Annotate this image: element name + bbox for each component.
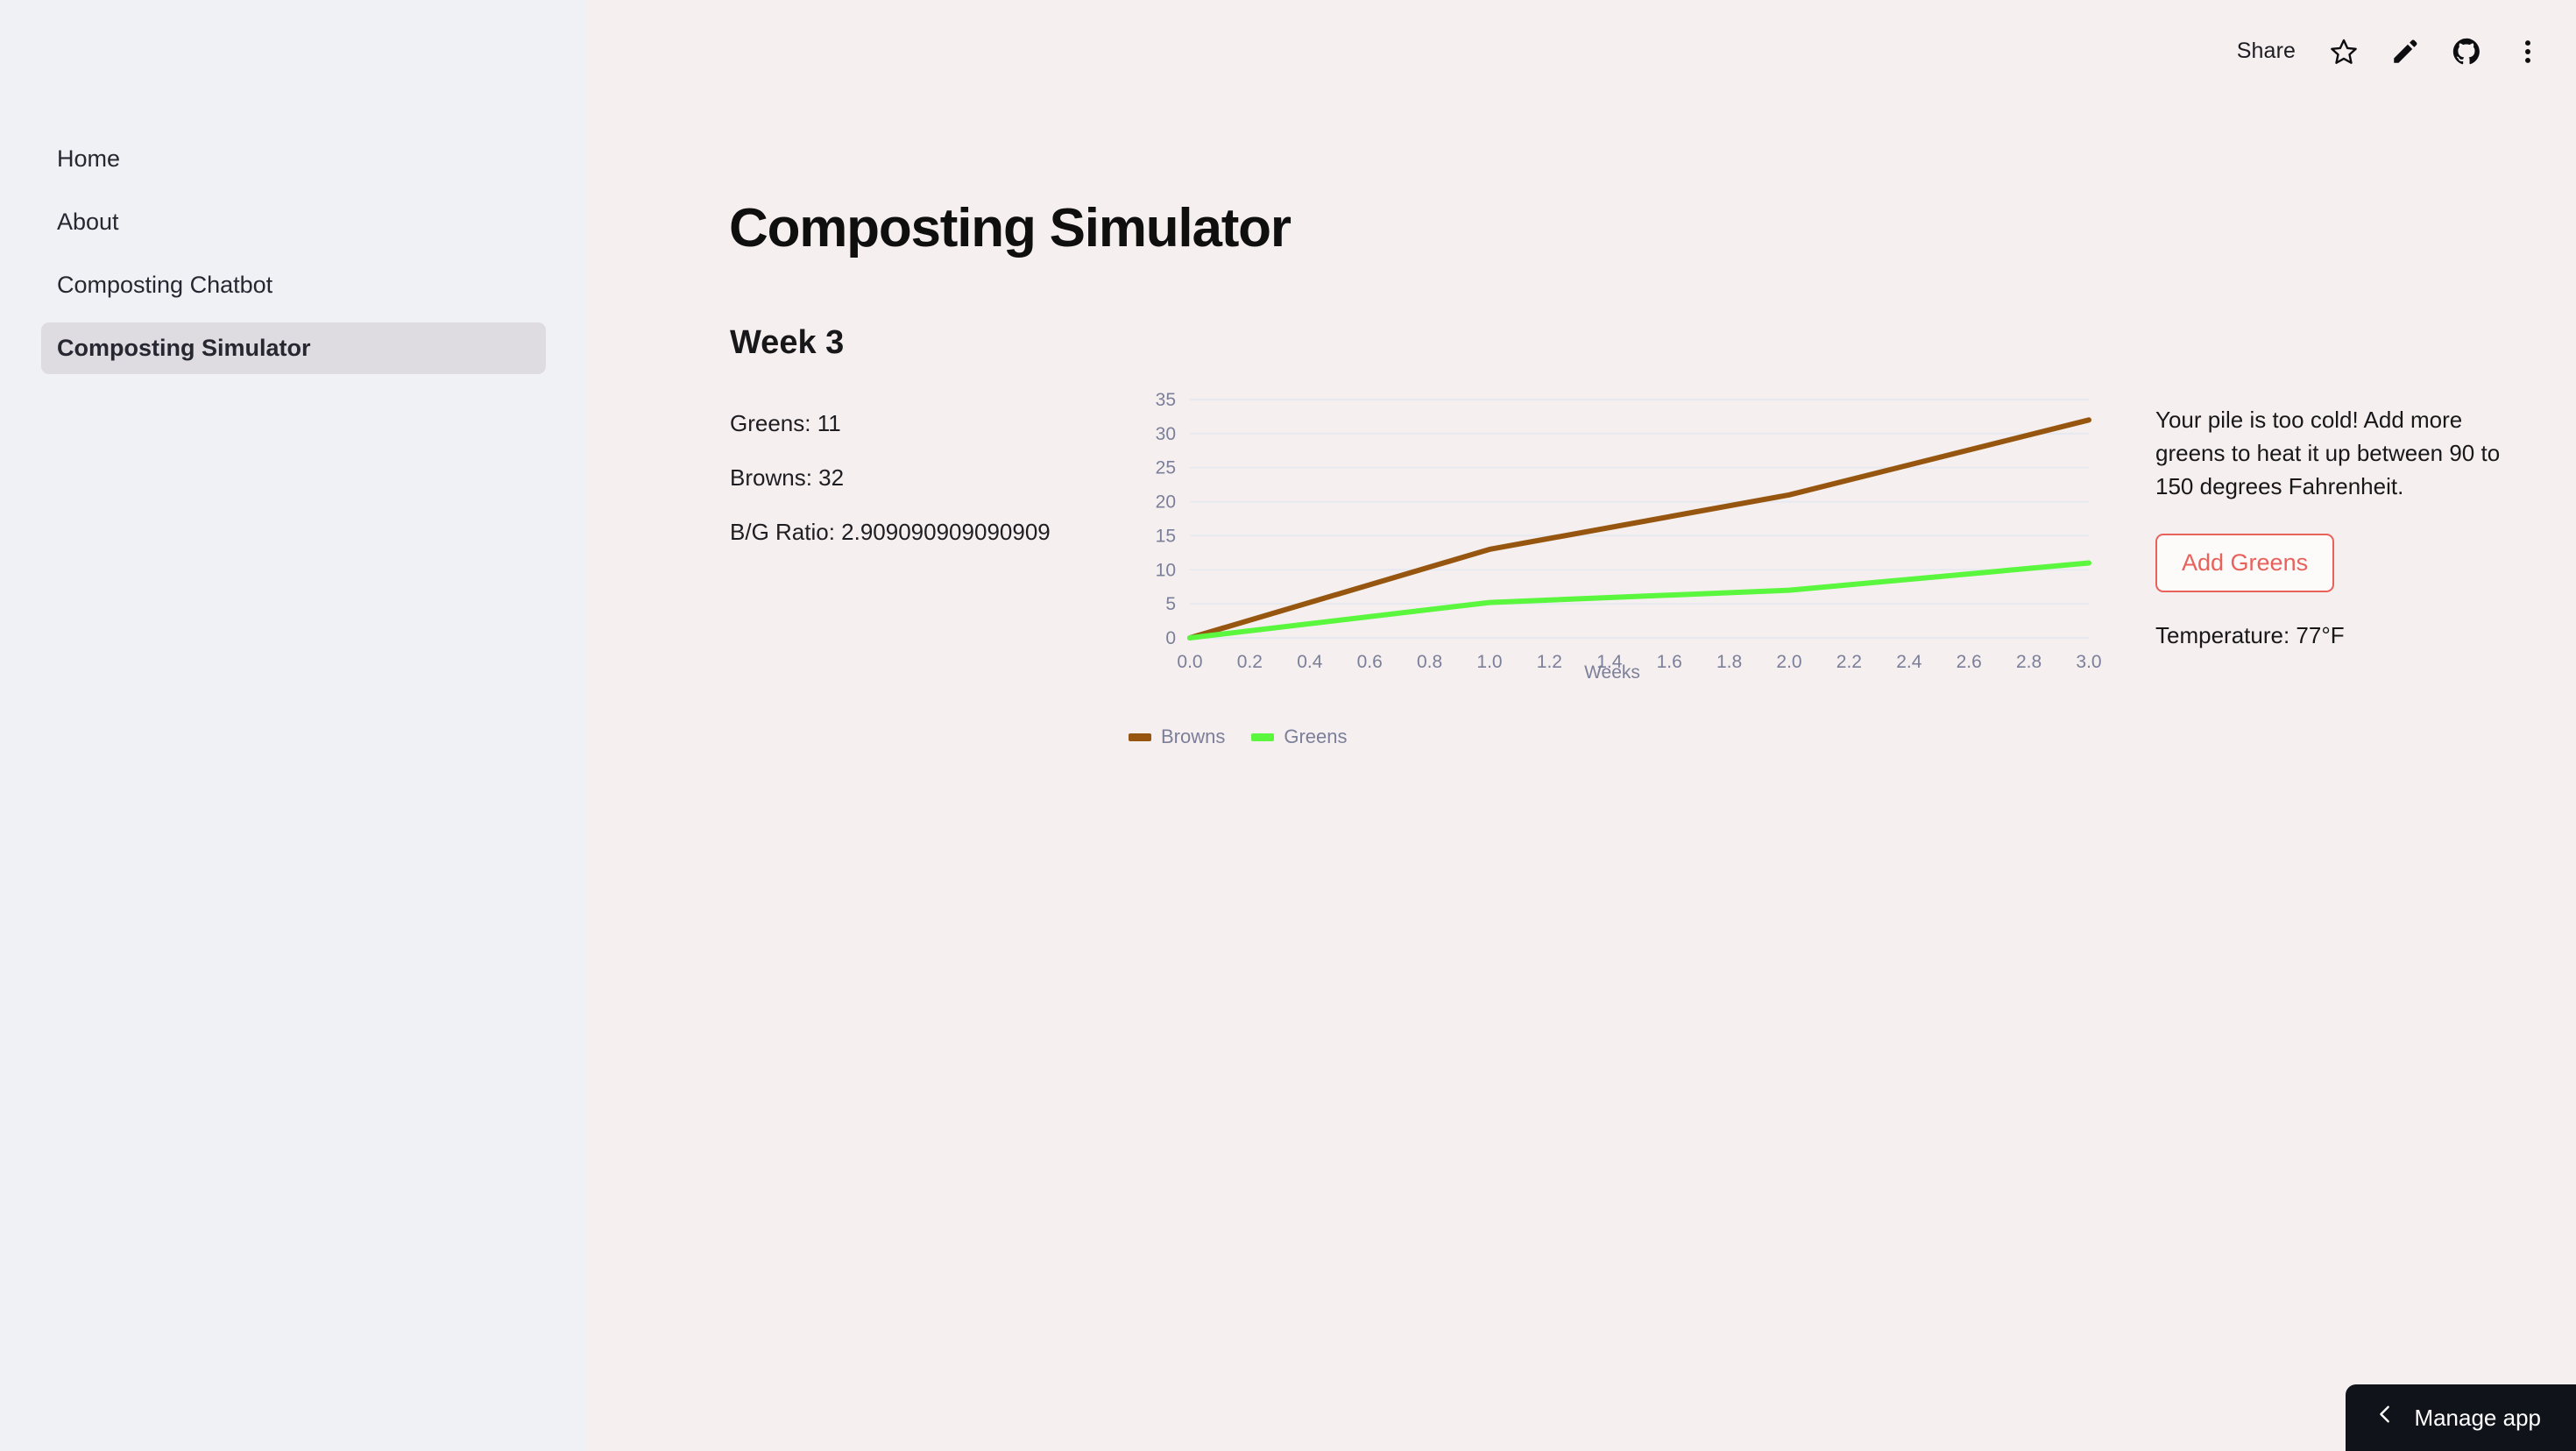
svg-text:30: 30 (1156, 424, 1176, 444)
svg-text:35: 35 (1156, 390, 1176, 410)
more-vertical-icon[interactable] (2513, 37, 2543, 67)
chart-canvas: 051015202530350.00.20.40.60.81.01.21.41.… (1113, 386, 2112, 701)
share-button[interactable]: Share (2235, 35, 2297, 67)
pencil-icon[interactable] (2390, 37, 2420, 67)
legend-swatch-greens (1251, 733, 1274, 741)
manage-app-button[interactable]: Manage app (2346, 1384, 2576, 1451)
add-greens-button[interactable]: Add Greens (2155, 534, 2334, 592)
advice-message: Your pile is too cold! Add more greens t… (2155, 403, 2506, 504)
svg-text:10: 10 (1156, 560, 1176, 580)
stat-browns: Browns: 32 (730, 463, 1063, 494)
legend-swatch-browns (1129, 733, 1151, 741)
main-content: Share (587, 0, 2576, 1451)
svg-text:5: 5 (1165, 594, 1176, 614)
svg-text:20: 20 (1156, 492, 1176, 513)
temperature-readout: Temperature: 77°F (2155, 622, 2506, 649)
sidebar: Home About Composting Chatbot Composting… (0, 0, 587, 1451)
legend-item-greens[interactable]: Greens (1251, 725, 1347, 748)
page-title: Composting Simulator (729, 197, 1291, 259)
sidebar-nav: Home About Composting Chatbot Composting… (41, 133, 546, 386)
stats-panel: Greens: 11 Browns: 32 B/G Ratio: 2.90909… (730, 408, 1063, 571)
svg-text:15: 15 (1156, 526, 1176, 546)
week-title: Week 3 (730, 324, 844, 362)
chart-xaxis-label: Weeks (1113, 662, 2112, 683)
top-toolbar: Share (2235, 35, 2543, 67)
github-icon[interactable] (2452, 37, 2481, 67)
manage-app-label: Manage app (2414, 1405, 2541, 1432)
advice-panel: Your pile is too cold! Add more greens t… (2155, 403, 2506, 649)
chevron-left-icon (2375, 1405, 2395, 1431)
legend-item-browns[interactable]: Browns (1129, 725, 1225, 748)
sidebar-item-about[interactable]: About (41, 196, 546, 248)
legend-label-browns: Browns (1161, 725, 1225, 748)
legend-label-greens: Greens (1284, 725, 1347, 748)
compost-line-chart[interactable]: 051015202530350.00.20.40.60.81.01.21.41.… (1113, 386, 2112, 701)
app-root: Home About Composting Chatbot Composting… (0, 0, 2576, 1451)
svg-text:25: 25 (1156, 458, 1176, 478)
sidebar-item-composting-chatbot[interactable]: Composting Chatbot (41, 259, 546, 311)
svg-text:0: 0 (1165, 628, 1176, 648)
stat-bg-ratio: B/G Ratio: 2.909090909090909 (730, 517, 1063, 549)
sidebar-item-composting-simulator[interactable]: Composting Simulator (41, 322, 546, 374)
chart-legend: Browns Greens (1129, 725, 1348, 748)
sidebar-item-home[interactable]: Home (41, 133, 546, 185)
star-icon[interactable] (2329, 37, 2359, 67)
stat-greens: Greens: 11 (730, 408, 1063, 440)
